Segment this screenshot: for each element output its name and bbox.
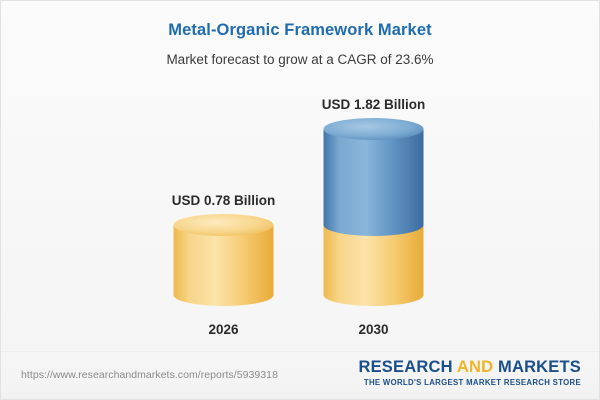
brand-tagline: THE WORLD'S LARGEST MARKET RESEARCH STOR… (358, 378, 581, 387)
brand-name: RESEARCH AND MARKETS (358, 358, 581, 377)
x-axis-label-2026: 2026 (208, 322, 238, 337)
brand-name-first: RESEARCH (358, 358, 456, 376)
cylinder-top (174, 214, 274, 236)
chart-plot-area: USD 0.78 Billion (1, 1, 600, 353)
bar-value-label: USD 1.82 Billion (322, 97, 426, 112)
bar-group-2026: USD 0.78 Billion (173, 214, 274, 306)
source-url[interactable]: https://www.researchandmarkets.com/repor… (21, 369, 278, 381)
bar-group-2030: USD 1.82 Billion (323, 118, 424, 306)
cylinder-2030 (323, 118, 424, 306)
cylinder-body (174, 225, 274, 306)
cylinder-base-segment (324, 225, 424, 306)
brand-name-and: AND (457, 358, 493, 376)
cylinder-top (324, 118, 424, 140)
x-axis-label-2030: 2030 (358, 322, 388, 337)
brand-logo: RESEARCH AND MARKETS THE WORLD'S LARGEST… (358, 358, 581, 387)
bar-value-label: USD 0.78 Billion (172, 193, 276, 208)
footer: https://www.researchandmarkets.com/repor… (1, 351, 599, 399)
cylinder-2026 (173, 214, 274, 306)
chart-card: Metal-Organic Framework Market Market fo… (0, 0, 600, 400)
brand-name-last: MARKETS (493, 358, 581, 376)
cylinder-growth-segment (324, 129, 424, 236)
